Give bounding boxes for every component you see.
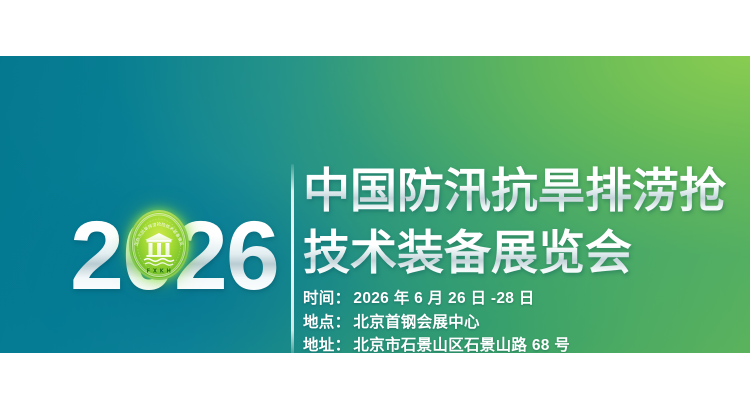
event-info-block: 时间：2026 年 6 月 26 日 -28 日 地点：北京首钢会展中心 地址：… xyxy=(303,287,570,353)
emblem-artwork-icon: 中国防汛抗旱排涝抢险技术装备展览会 F X K H xyxy=(129,210,189,280)
event-venue-value: 北京首钢会展中心 xyxy=(353,314,479,331)
exhibition-emblem-icon: 中国防汛抗旱排涝抢险技术装备展览会 F X K H xyxy=(129,210,189,280)
event-time-label: 时间： xyxy=(303,290,350,307)
event-venue-label: 地点： xyxy=(303,314,350,331)
event-address-row: 地址：北京市石景山区石景山路 68 号 xyxy=(303,334,570,353)
title-line-1: 中国防汛抗旱排涝抢 xyxy=(303,160,750,222)
event-time-row: 时间：2026 年 6 月 26 日 -28 日 xyxy=(303,287,570,311)
event-address-label: 地址： xyxy=(303,337,350,353)
title-line-2: 技术装备展览会 xyxy=(303,222,750,284)
exhibition-banner: 2026 中国防汛抗旱排涝抢险技 xyxy=(0,56,750,353)
event-venue-row: 地点：北京首钢会展中心 xyxy=(303,311,570,335)
svg-text:F X K H: F X K H xyxy=(147,269,172,275)
event-address-value: 北京市石景山区石景山路 68 号 xyxy=(353,337,570,353)
year-logo-group: 2026 中国防汛抗旱排涝抢险技 xyxy=(70,206,285,311)
vertical-divider xyxy=(291,164,294,353)
event-time-value: 2026 年 6 月 26 日 -28 日 xyxy=(353,290,534,307)
banner-image: 2026 中国防汛抗旱排涝抢险技 xyxy=(0,0,750,410)
title-block: 中国防汛抗旱排涝抢 技术装备展览会 xyxy=(303,160,750,284)
